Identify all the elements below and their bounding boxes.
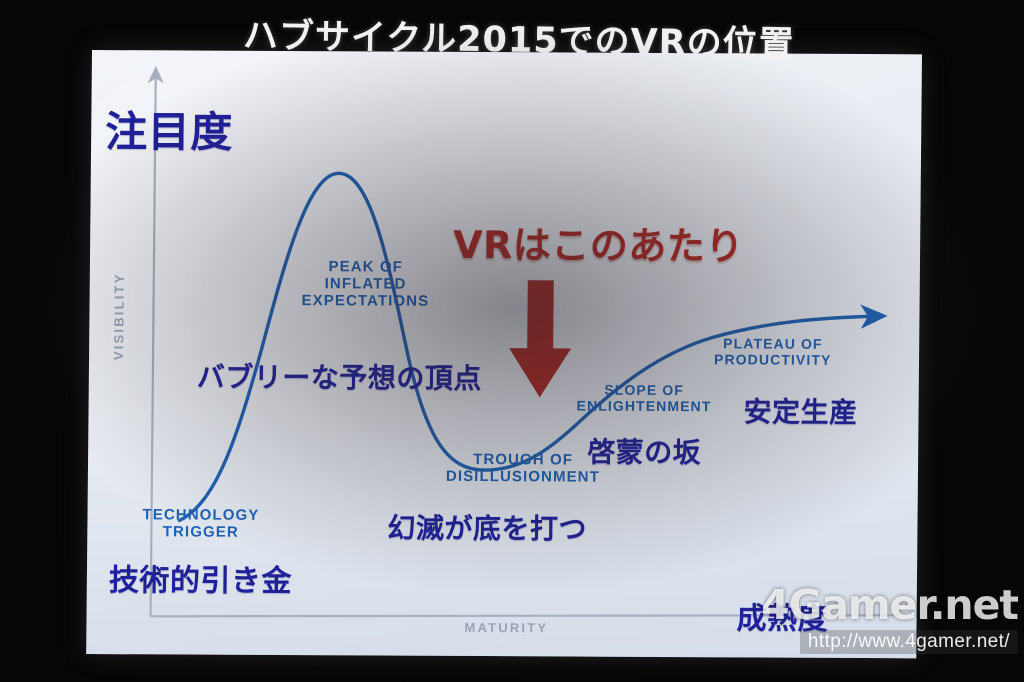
stage-label-trough-jp: 幻滅が底を打つ (387, 507, 587, 548)
stage-label-line2: TRIGGER (142, 524, 259, 541)
y-axis-label-en: VISIBILITY (111, 272, 127, 360)
stage-label-trough-en: TROUGH OF DISILLUSIONMENT (446, 452, 600, 486)
stage-label-plateau-en: PLATEAU OF PRODUCTIVITY (714, 336, 832, 368)
stage-label-peak-en: PEAK OF INFLATED EXPECTATIONS (302, 259, 430, 310)
stage-label-line2: PRODUCTIVITY (714, 352, 832, 368)
stage-label-slope-jp: 啓蒙の坂 (587, 431, 701, 472)
stage-label-line1: PLATEAU OF (714, 336, 832, 352)
stage-label-technology-trigger-en: TECHNOLOGY TRIGGER (142, 507, 259, 541)
stage-label-peak-jp: バブリーな予想の頂点 (197, 356, 482, 397)
stage-label-line1: PEAK OF (302, 259, 430, 276)
stage-label-line1: SLOPE OF (577, 383, 712, 399)
stage-label-line1: TECHNOLOGY (142, 507, 259, 524)
stage-label-line2: ENLIGHTENMENT (577, 398, 712, 414)
stage-label-line2: DISILLUSIONMENT (446, 469, 600, 487)
projected-slide-photo: ハブサイクル2015でのVRの位置 (0, 0, 1024, 682)
stage-label-line1: TROUGH OF (446, 452, 600, 470)
stage-label-slope-en: SLOPE OF ENLIGHTENMENT (577, 383, 712, 415)
stage-label-plateau-jp: 安定生産 (743, 390, 857, 431)
vr-position-arrow-icon (509, 280, 572, 397)
stage-label-line2: INFLATED (302, 276, 430, 293)
y-axis-label-jp: 注目度 (105, 98, 233, 160)
x-axis-label-jp: 成熟度 (736, 593, 828, 637)
slide-title: ハブサイクル2015でのVRの位置 (243, 7, 844, 67)
stage-label-technology-trigger-jp: 技術的引き金 (109, 555, 292, 600)
stage-label-line3: EXPECTATIONS (302, 293, 430, 310)
projection-surface: VISIBILITY MATURITY 注目度 成熟度 TECHNOLOGY T… (86, 50, 922, 658)
x-axis-label-en: MATURITY (464, 620, 548, 635)
vr-position-annotation: VRはこのあたり (453, 214, 744, 271)
